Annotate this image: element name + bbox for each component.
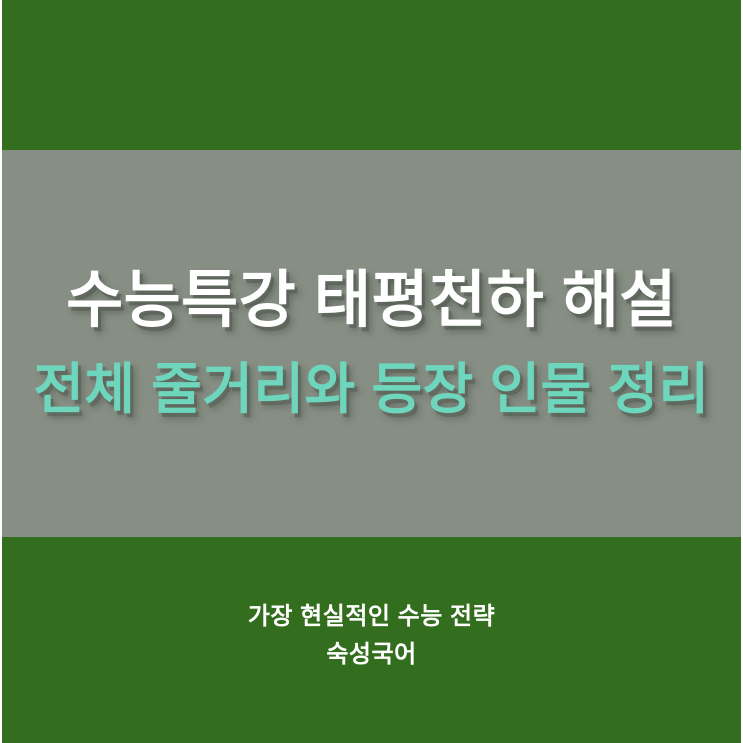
footer-brand: 숙성국어: [326, 640, 416, 670]
headline-block: 수능특강 태평천하 해설 전체 줄거리와 등장 인물 정리: [2, 150, 741, 537]
poster-title: 수능특강 태평천하 해설: [66, 268, 677, 333]
footer-block: 가장 현실적인 수능 전략 숙성국어: [2, 537, 741, 743]
poster-card: 수능특강 태평천하 해설 전체 줄거리와 등장 인물 정리 가장 현실적인 수능…: [0, 0, 743, 743]
poster-subtitle: 전체 줄거리와 등장 인물 정리: [33, 361, 709, 419]
footer-tagline: 가장 현실적인 수능 전략: [248, 602, 495, 632]
